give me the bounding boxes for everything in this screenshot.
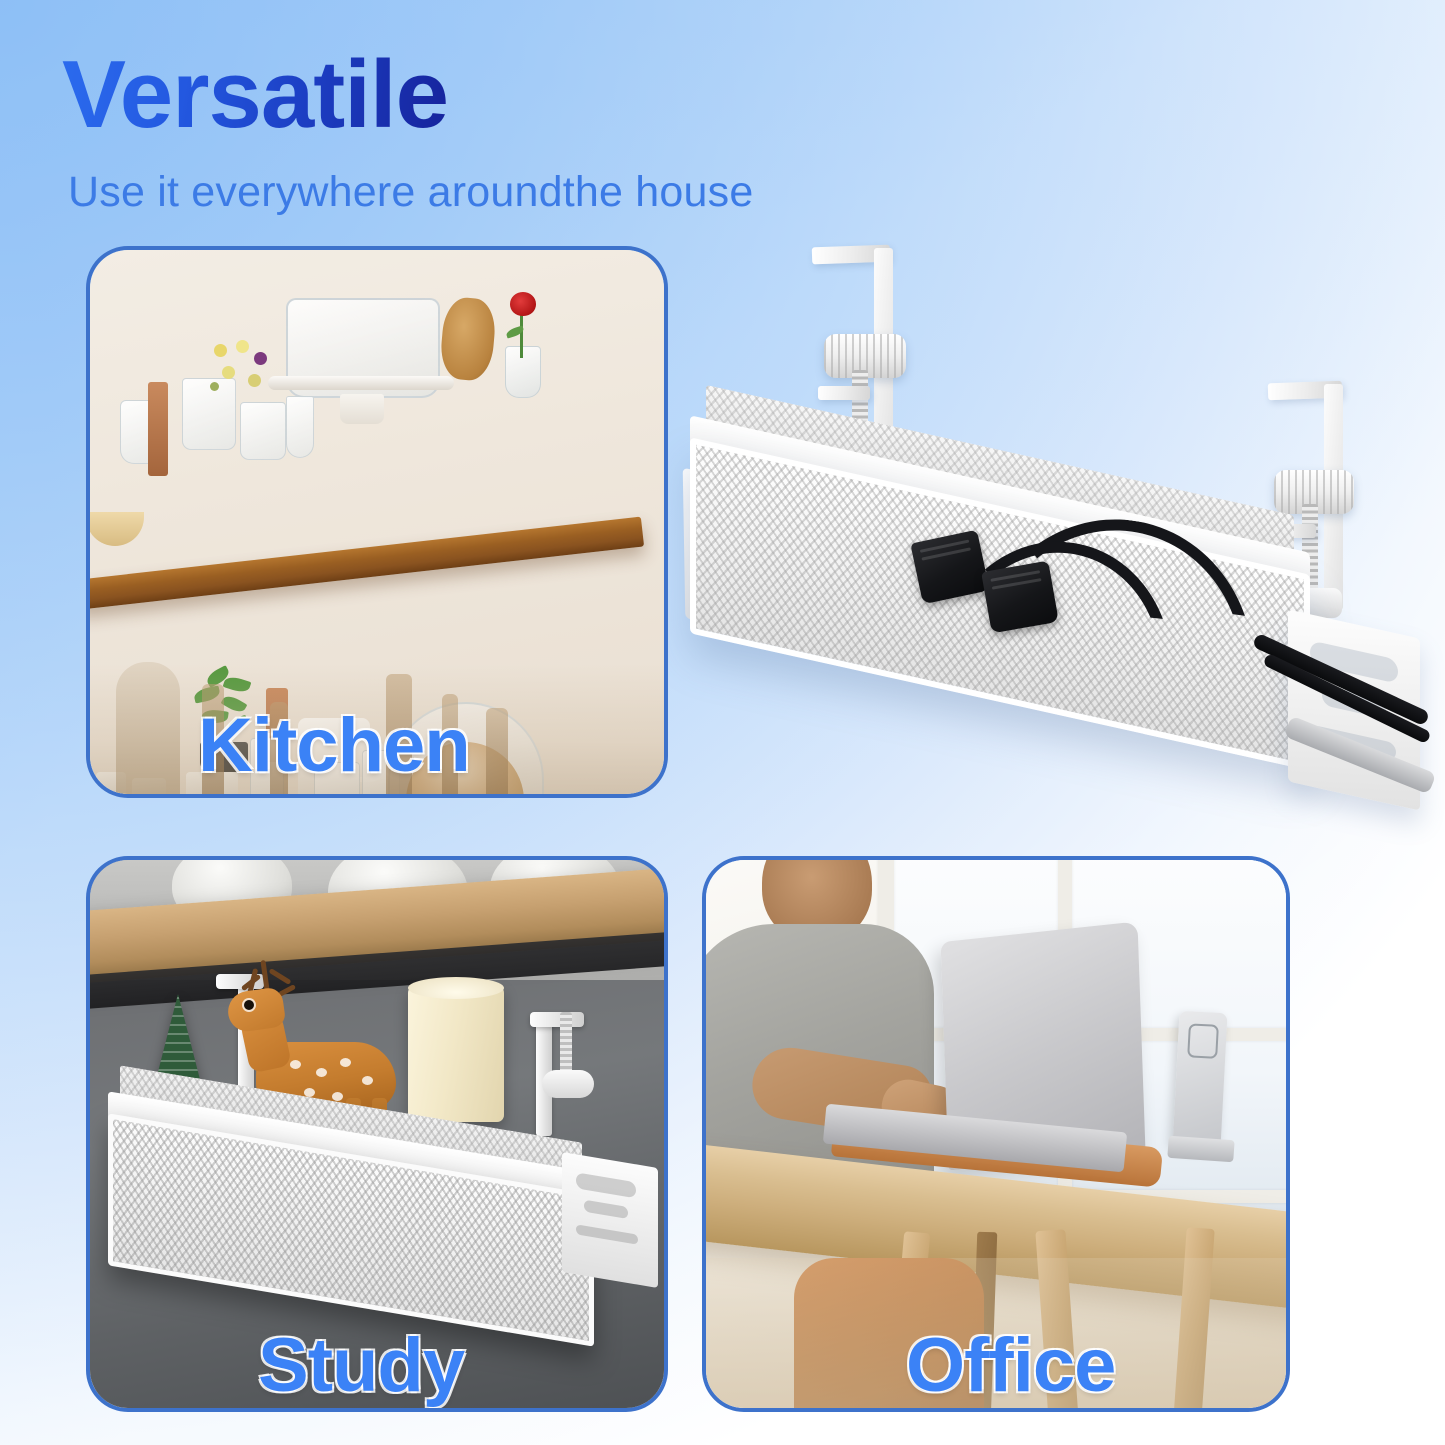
page-title: Versatile bbox=[62, 46, 448, 144]
power-plug-2 bbox=[981, 561, 1059, 634]
led-candle bbox=[408, 986, 504, 1122]
panel-label-kitchen: Kitchen bbox=[198, 708, 470, 784]
product-marketing-poster: Versatile Use it everywhere aroundthe ho… bbox=[0, 0, 1445, 1445]
panel-office[interactable]: Office bbox=[702, 856, 1290, 1412]
page-subtitle: Use it everywhere aroundthe house bbox=[68, 168, 753, 217]
smartphone bbox=[1172, 1011, 1227, 1149]
panel-label-office: Office bbox=[906, 1328, 1115, 1404]
panel-label-study: Study bbox=[258, 1328, 464, 1404]
panel-kitchen[interactable]: Kitchen bbox=[86, 246, 668, 798]
panel-study[interactable]: Study bbox=[86, 856, 668, 1412]
hero-product-image bbox=[690, 236, 1445, 866]
